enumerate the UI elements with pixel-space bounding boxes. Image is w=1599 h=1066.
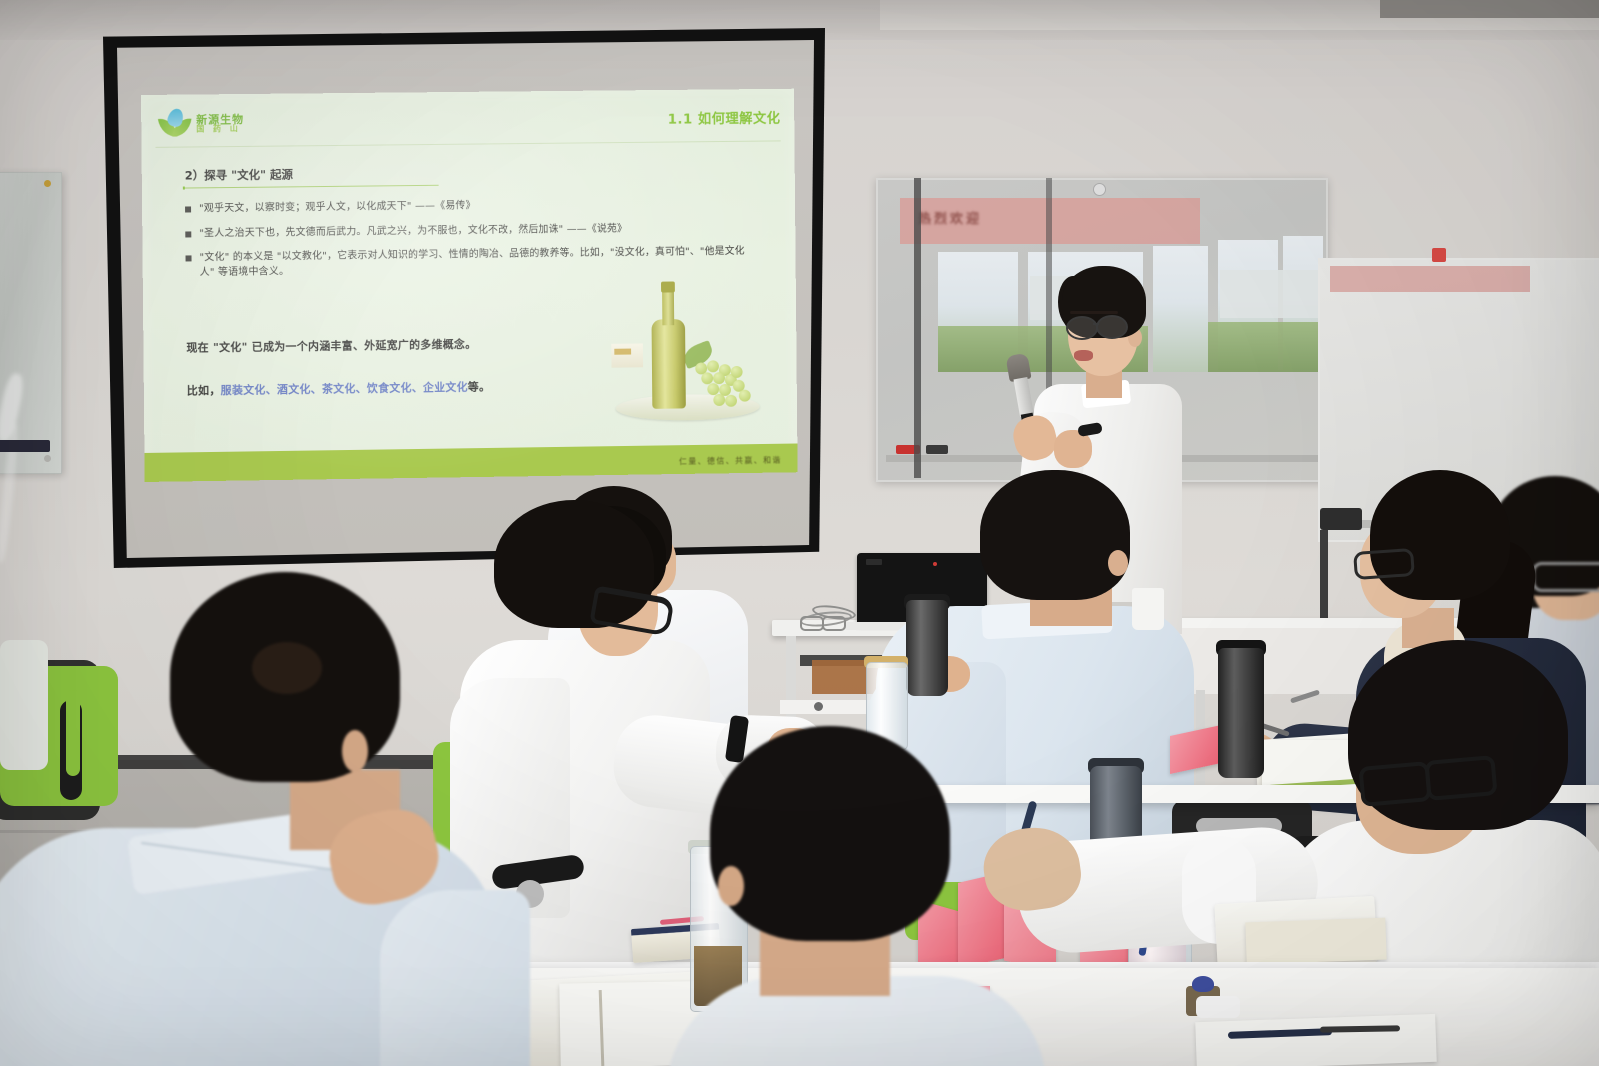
leaf-water-drop-icon	[159, 109, 191, 139]
arm	[380, 890, 530, 1066]
hair	[1370, 470, 1510, 600]
paragraph-2-prefix: 比如，	[187, 384, 221, 397]
black-vacuum-flask	[1218, 648, 1264, 778]
hair	[710, 726, 950, 941]
bullet-text: "观乎天文，以察时变；观乎人文，以化成天下" ——《易传》	[199, 199, 476, 217]
ceiling-notch	[1380, 0, 1599, 18]
whiteboard-frame-post	[914, 178, 921, 478]
left-glass-whiteboard	[0, 172, 62, 474]
laptop-indicator-icon	[933, 562, 937, 566]
tissue	[1196, 996, 1240, 1018]
microphone-body	[1014, 377, 1034, 417]
paper-sheet	[1195, 1014, 1437, 1066]
grapes-cluster	[687, 350, 758, 412]
wine-bottle-shape	[651, 281, 686, 409]
ceiling-light-fixture	[1093, 183, 1106, 196]
bullet-square-icon	[186, 255, 192, 261]
bullet-square-icon	[185, 231, 191, 237]
paragraph-2-suffix: 等。	[468, 380, 491, 393]
black-vacuum-flask	[906, 600, 948, 696]
building-outside	[1220, 270, 1320, 318]
glasses-icon	[1353, 548, 1415, 580]
slide-section-heading: 2）探寻 "文化" 起源	[185, 166, 293, 183]
trees-outside	[1208, 322, 1323, 372]
paper-cup	[1132, 588, 1164, 630]
left-whiteboard-tray	[0, 440, 50, 452]
slide-logo: 新源生物 国 药 山	[159, 106, 279, 141]
window-pane	[1153, 246, 1208, 372]
chair-seat-cover[interactable]	[0, 640, 48, 770]
bullet-text: "圣人之治天下也，先文德而后武力。凡武之兴，为不服也，文化不改，然后加诛" ——…	[199, 222, 627, 241]
glasses-right-lens	[1424, 755, 1497, 801]
lens-left	[800, 616, 824, 631]
black-marker-icon	[926, 445, 948, 454]
lens-right	[822, 616, 846, 631]
eyeglasses-on-podium	[800, 616, 846, 628]
presenter-glasses-right-lens	[1096, 315, 1128, 339]
whiteboard-clip-icon	[1432, 248, 1446, 262]
slide-header-rule	[155, 140, 780, 147]
logo-subtitle: 国 药 山	[196, 124, 244, 132]
section-underline	[185, 185, 439, 189]
ear	[718, 866, 744, 906]
red-banner-text: 热烈欢迎	[918, 208, 982, 227]
paragraph-2-highlight: 服装文化、酒文化、茶文化、饮食文化、企业文化	[221, 381, 468, 397]
glasses-icon	[1532, 562, 1599, 592]
slide-title: 1.1 如何理解文化	[668, 107, 781, 128]
list-item: "圣人之治天下也，先文德而后武力。凡武之兴，为不服也，文化不改，然后加诛" ——…	[185, 220, 758, 241]
far-whiteboard-banner	[1330, 266, 1530, 292]
bullet-square-icon	[185, 206, 191, 212]
slide-paragraph-1: 现在 "文化" 已成为一个内涵丰富、外延宽广的多维概念。	[186, 336, 476, 356]
bottle-label	[611, 343, 643, 367]
classroom-photo-scene: 新源生物 国 药 山 1.1 如何理解文化 2）探寻 "文化" 起源 "观乎天文…	[0, 0, 1599, 1066]
list-item: "观乎天文，以察时变；观乎人文，以化成天下" ——《易传》	[185, 196, 758, 217]
projected-slide: 新源生物 国 药 山 1.1 如何理解文化 2）探寻 "文化" 起源 "观乎天文…	[141, 89, 798, 482]
presenter-mouth	[1074, 350, 1093, 361]
notebook-page	[1245, 918, 1386, 965]
slide-paragraph-2: 比如，服装文化、酒文化、茶文化、饮食文化、企业文化等。	[187, 378, 491, 398]
slide-footer-text: 仁量、德信、共赢、和谐	[679, 455, 782, 467]
ear	[342, 730, 368, 772]
bottle-label-text	[614, 349, 631, 355]
glasses-left-lens	[1358, 761, 1431, 807]
hair-highlight	[252, 642, 322, 694]
wine-bottle-grapes-illustration	[610, 272, 764, 428]
whiteboard-mount-screw-top	[44, 180, 51, 187]
equipment-box	[1320, 508, 1362, 530]
presenter-eyebrow	[1070, 311, 1118, 314]
hair	[980, 470, 1130, 600]
presenter-glasses-left-lens	[1066, 316, 1098, 340]
whiteboard-mount-screw-bottom	[44, 455, 51, 462]
chair-armrest-pad[interactable]	[66, 690, 80, 776]
laptop-logo-icon	[866, 559, 882, 565]
blue-object	[1192, 976, 1214, 992]
pen-cap-icon	[814, 702, 823, 711]
presenter-glasses-bridge	[1093, 323, 1099, 325]
ear	[1108, 550, 1128, 576]
